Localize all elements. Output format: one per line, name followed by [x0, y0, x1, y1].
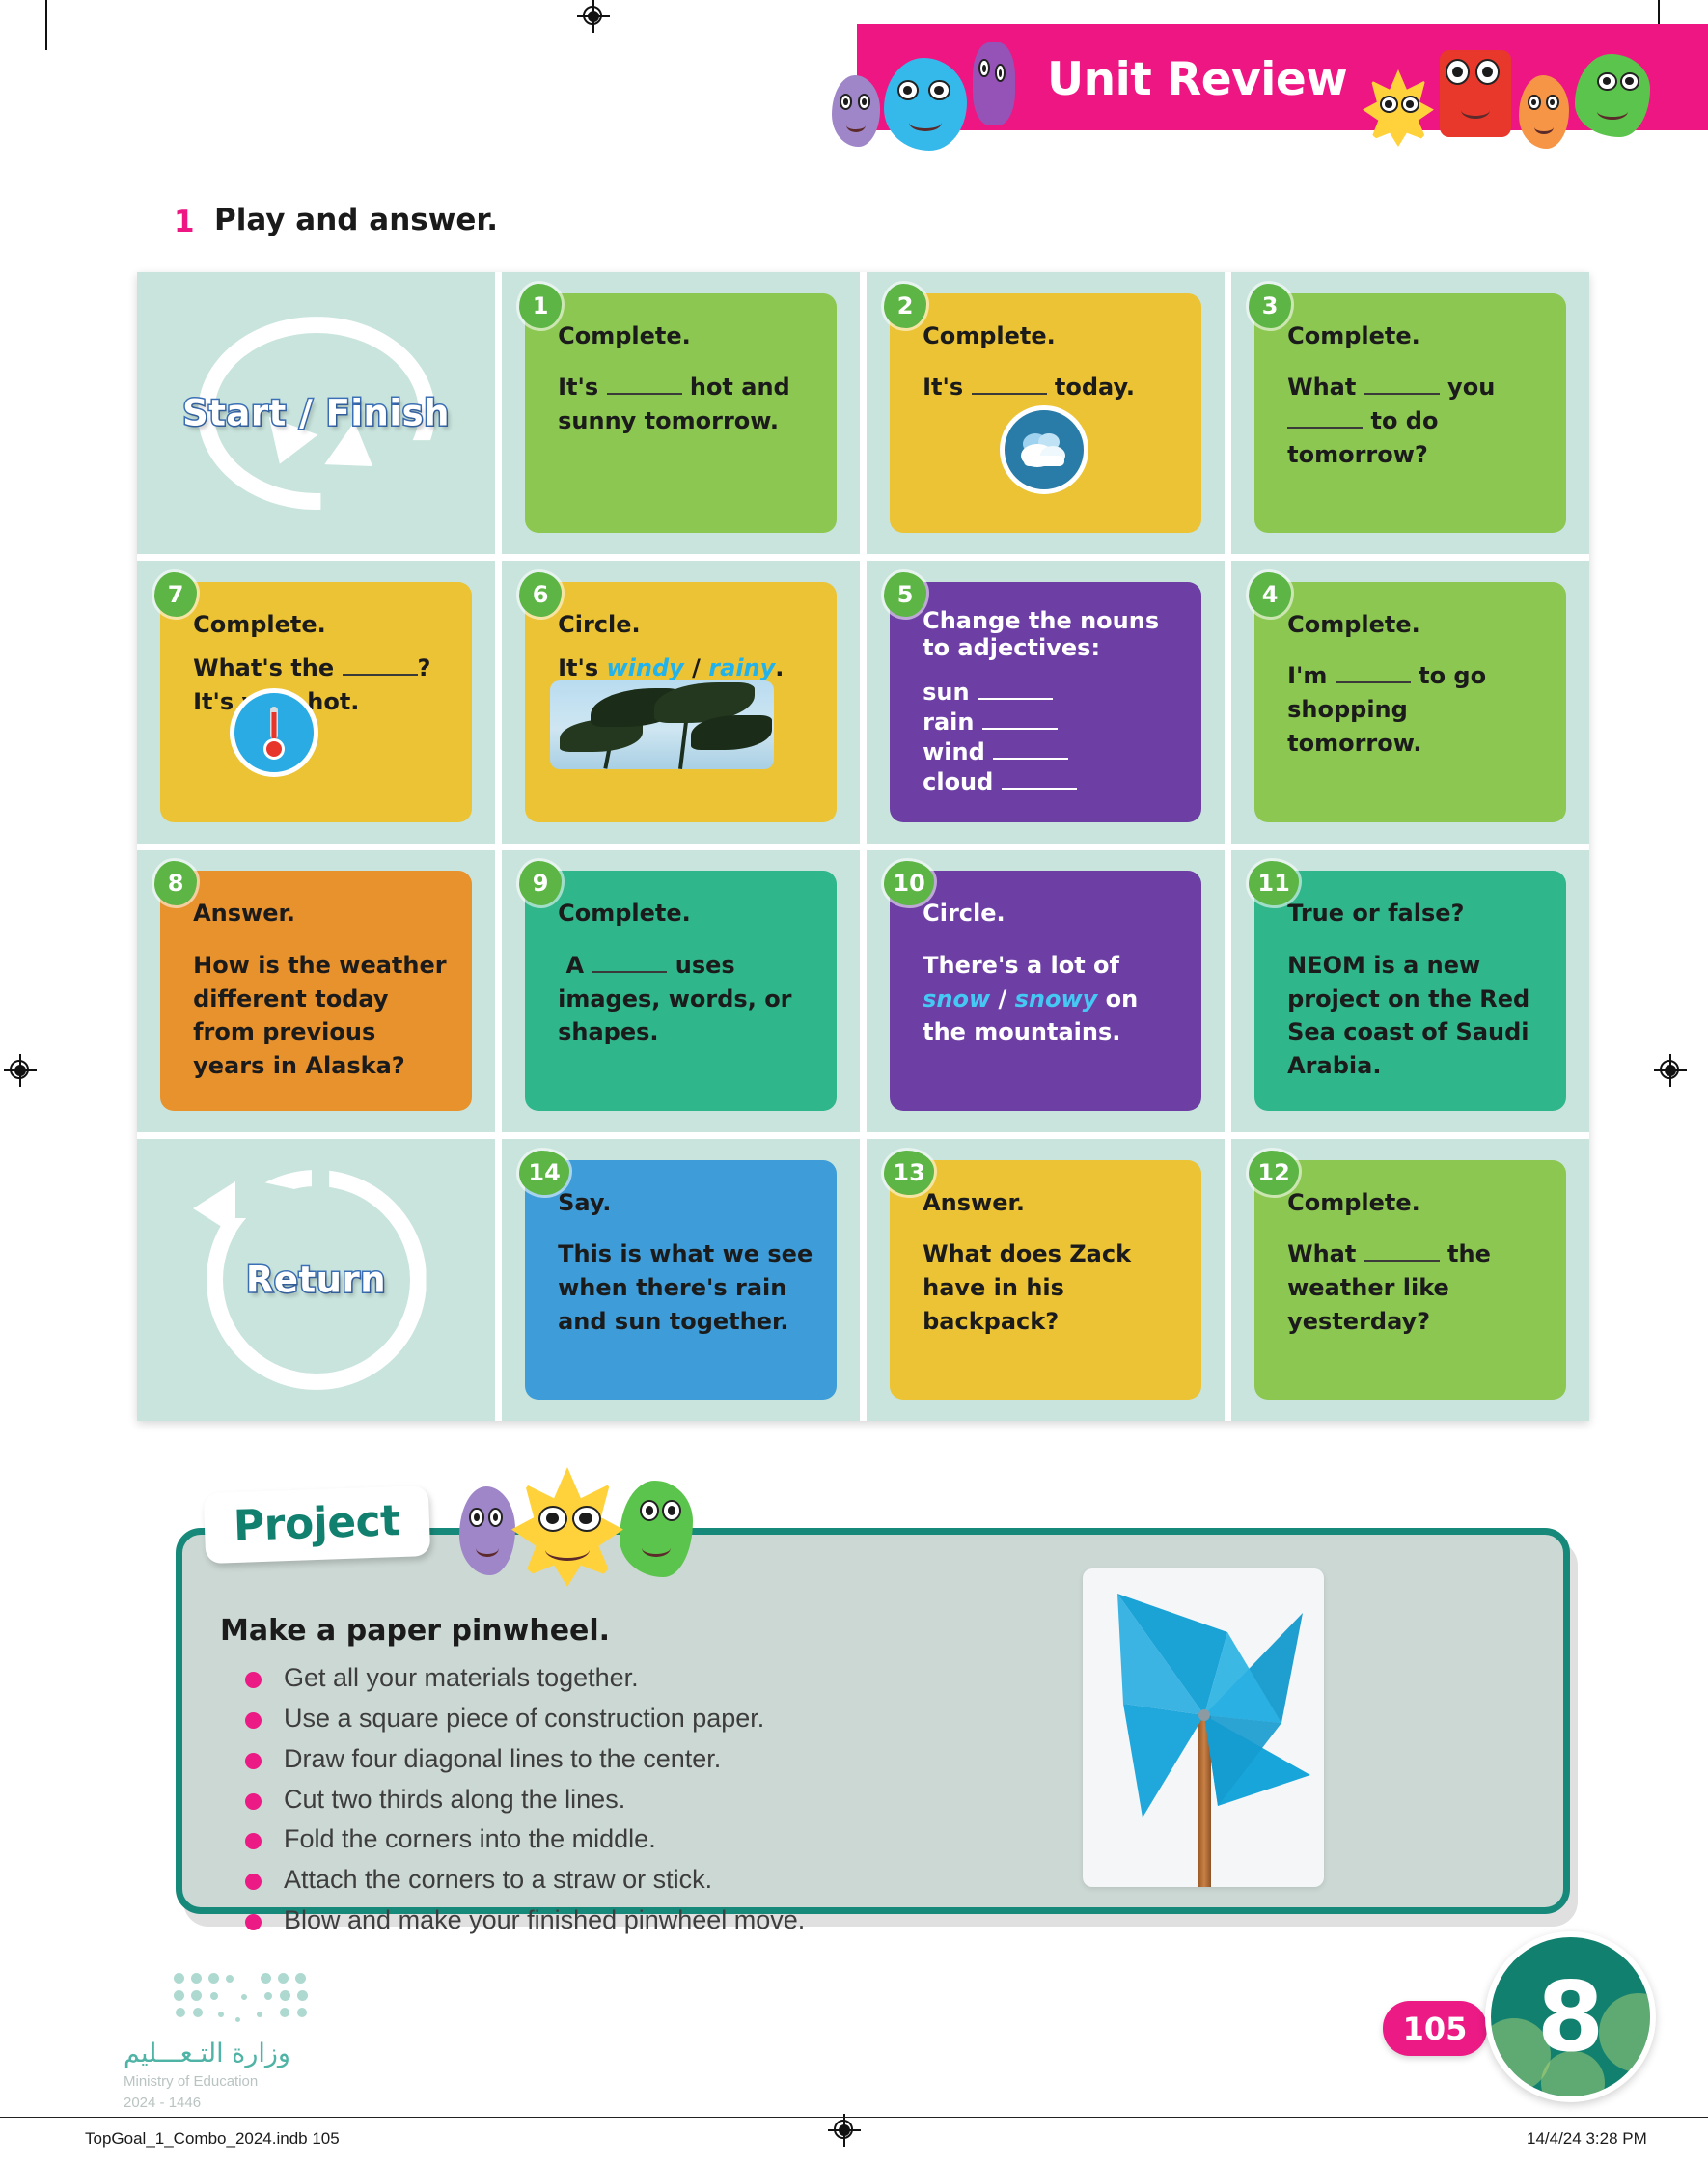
project-steps-list: Get all your materials together. Use a s… [228, 1658, 1077, 1941]
banner-title: Unit Review [1047, 53, 1347, 106]
card-number-badge: 14 [519, 1151, 569, 1195]
noun-to-adjective-list: sun rain wind cloud [923, 678, 1180, 798]
card-number-badge: 9 [519, 861, 562, 905]
registration-mark-left [4, 1054, 37, 1087]
card-number-badge: 3 [1249, 284, 1291, 328]
answer-blank[interactable] [972, 393, 1047, 395]
circle-option-rainy[interactable]: rainy [708, 654, 775, 681]
answer-blank[interactable] [1364, 1260, 1440, 1262]
mascot-purple-project-icon [459, 1486, 515, 1575]
board-cell-2: 2 Complete. It's today. [867, 272, 1225, 554]
pinwheel-blades [1083, 1568, 1324, 1887]
card-body: What does Zack have in his backpack? [923, 1237, 1180, 1338]
task-card-5[interactable]: 5 Change the nouns to adjectives: sun ra… [890, 582, 1201, 821]
ministry-year: 2024 - 1446 [124, 2095, 201, 2111]
board-cell-return: Return [137, 1139, 495, 1421]
unit-number-label: 8 [1537, 1969, 1605, 2066]
card-body: What you to do tomorrow? [1287, 371, 1545, 471]
page-number-badge: 105 [1383, 2001, 1487, 2056]
board-cell-11: 11 True or false? NEOM is a new project … [1231, 850, 1589, 1132]
card-body: This is what we see when there's rain an… [558, 1237, 815, 1338]
card-prompt: Complete. [193, 611, 451, 638]
project-tab: Project [204, 1485, 430, 1564]
cloud-glyph [1016, 430, 1072, 469]
card-prompt: Complete. [923, 322, 1180, 349]
project-step: Get all your materials together. [228, 1658, 1077, 1699]
mascot-purple-small-icon [832, 75, 880, 147]
return-arrow-left-icon [193, 1181, 235, 1235]
card-number-badge: 4 [1249, 572, 1291, 617]
task-card-7[interactable]: 7 Complete. What's the ?It's very hot. [160, 582, 472, 821]
card-body: NEOM is a new project on the Red Sea coa… [1287, 949, 1545, 1083]
card-number-badge: 2 [884, 284, 926, 328]
ministry-name-arabic: وزارة التـعـــليم [124, 2039, 290, 2068]
board-cell-start-finish: Start / Finish [137, 272, 495, 554]
registration-mark-right [1654, 1054, 1687, 1087]
project-step: Blow and make your finished pinwheel mov… [228, 1901, 1077, 1941]
task-card-1[interactable]: 1 Complete. It's hot and sunny tomorrow. [525, 293, 837, 533]
answer-blank[interactable] [978, 698, 1053, 700]
mascot-green-icon [1575, 54, 1650, 137]
project-step: Attach the corners to a straw or stick. [228, 1860, 1077, 1901]
card-prompt: Say. [558, 1189, 815, 1216]
answer-blank[interactable] [1002, 788, 1077, 790]
game-board: Start / Finish 1 Complete. It's hot and … [137, 272, 1589, 1421]
project-tab-label: Project [233, 1496, 400, 1551]
start-finish-label: Start / Finish [182, 393, 450, 434]
answer-blank[interactable] [1287, 427, 1363, 429]
card-prompt: Complete. [1287, 1189, 1545, 1216]
mascot-purple-tall-icon [973, 42, 1015, 125]
card-prompt: Circle. [923, 900, 1180, 927]
palm-frond [691, 715, 772, 750]
task-card-3[interactable]: 3 Complete. What you to do tomorrow? [1254, 293, 1566, 533]
task-card-8[interactable]: 8 Answer. How is the weather different t… [160, 871, 472, 1110]
mascot-red-block-icon [1440, 50, 1511, 137]
board-cell-13: 13 Answer. What does Zack have in his ba… [867, 1139, 1225, 1421]
task-card-12[interactable]: 12 Complete. What the weather like yeste… [1254, 1160, 1566, 1400]
card-number-badge: 7 [154, 572, 197, 617]
answer-blank[interactable] [343, 674, 418, 676]
noun-item: sun [923, 678, 1180, 708]
mascot-blue-large-icon [884, 58, 967, 151]
task-card-14[interactable]: 14 Say. This is what we see when there's… [525, 1160, 837, 1400]
thermometer-glyph [262, 703, 287, 763]
card-prompt: Answer. [193, 900, 451, 927]
board-cell-14: 14 Say. This is what we see when there's… [502, 1139, 860, 1421]
card-number-badge: 8 [154, 861, 197, 905]
project-step: Cut two thirds along the lines. [228, 1780, 1077, 1820]
card-prompt: Complete. [1287, 322, 1545, 349]
board-cell-8: 8 Answer. How is the weather different t… [137, 850, 495, 1132]
exercise-title: Play and answer. [214, 203, 498, 237]
footer-divider [0, 2117, 1708, 2118]
task-card-2[interactable]: 2 Complete. It's today. [890, 293, 1201, 533]
board-cell-4: 4 Complete. I'm to go shopping tomorrow. [1231, 561, 1589, 843]
thermometer-icon [230, 688, 318, 777]
task-card-6[interactable]: 6 Circle. It's windy / rainy. [525, 582, 837, 821]
card-number-badge: 1 [519, 284, 562, 328]
card-body: It's today. [923, 371, 1180, 404]
card-prompt: Complete. [558, 900, 815, 927]
card-number-badge: 6 [519, 572, 562, 617]
card-prompt: Complete. [558, 322, 815, 349]
footer-timestamp: 14/4/24 3:28 PM [1527, 2129, 1647, 2149]
registration-mark-top [577, 0, 610, 33]
footer-file-name: TopGoal_1_Combo_2024.indb 105 [85, 2129, 340, 2149]
board-cell-12: 12 Complete. What the weather like yeste… [1231, 1139, 1589, 1421]
circle-option-snowy[interactable]: snowy [1015, 985, 1098, 1013]
task-card-10[interactable]: 10 Circle. There's a lot of snow / snowy… [890, 871, 1201, 1110]
card-body: What the weather like yesterday? [1287, 1237, 1545, 1338]
ministry-name-english: Ministry of Education [124, 2073, 258, 2090]
project-step: Draw four diagonal lines to the center. [228, 1739, 1077, 1780]
answer-blank[interactable] [1336, 681, 1411, 683]
project-title: Make a paper pinwheel. [220, 1614, 610, 1648]
noun-item: cloud [923, 767, 1180, 797]
answer-blank[interactable] [592, 971, 667, 973]
task-card-11[interactable]: 11 True or false? NEOM is a new project … [1254, 871, 1566, 1110]
card-prompt: Complete. [1287, 611, 1545, 638]
ministry-logo-icon [172, 1971, 317, 2029]
unit-number-badge: 8 [1485, 1931, 1656, 2102]
return-label: Return [246, 1259, 386, 1300]
task-card-9[interactable]: 9 Complete. A uses images, words, or sha… [525, 871, 837, 1110]
circle-option-windy[interactable]: windy [607, 654, 684, 681]
noun-item: wind [923, 737, 1180, 767]
blue-paper-pinwheel-photo [1083, 1568, 1324, 1887]
board-cell-9: 9 Complete. A uses images, words, or sha… [502, 850, 860, 1132]
card-prompt: Answer. [923, 1189, 1180, 1216]
task-card-4[interactable]: 4 Complete. I'm to go shopping tomorrow. [1254, 582, 1566, 821]
cloud-icon [1000, 405, 1088, 494]
card-body: I'm to go shopping tomorrow. [1287, 659, 1545, 760]
board-cell-1: 1 Complete. It's hot and sunny tomorrow. [502, 272, 860, 554]
noun-item: rain [923, 708, 1180, 737]
board-cell-6: 6 Circle. It's windy / rainy. [502, 561, 860, 843]
card-prompt: Change the nouns to adjectives: [923, 607, 1180, 662]
answer-blank[interactable] [982, 728, 1058, 730]
card-prompt: Circle. [558, 611, 815, 638]
crop-mark-top-left [45, 0, 47, 50]
card-body: How is the weather different today from … [193, 949, 451, 1083]
card-body: A uses images, words, or shapes. [558, 949, 815, 1049]
card-body: What's the ?It's very hot. [193, 652, 451, 719]
card-prompt: True or false? [1287, 900, 1545, 927]
card-body: It's hot and sunny tomorrow. [558, 371, 815, 438]
registration-mark-bottom [828, 2114, 861, 2147]
mascot-orange-icon [1519, 75, 1569, 149]
answer-blank[interactable] [607, 393, 682, 395]
card-number-badge: 13 [884, 1151, 934, 1195]
circle-option-snow[interactable]: snow [923, 985, 990, 1013]
board-cell-3: 3 Complete. What you to do tomorrow? [1231, 272, 1589, 554]
card-number-badge: 12 [1249, 1151, 1299, 1195]
task-card-13[interactable]: 13 Answer. What does Zack have in his ba… [890, 1160, 1201, 1400]
windy-palm-trees-photo [550, 680, 774, 769]
project-step: Fold the corners into the middle. [228, 1819, 1077, 1860]
project-step: Use a square piece of construction paper… [228, 1699, 1077, 1739]
exercise-number: 1 [174, 205, 195, 239]
answer-blank[interactable] [1364, 393, 1440, 395]
card-number-badge: 5 [884, 572, 926, 617]
card-body: There's a lot of snow / snowy on the mou… [923, 949, 1180, 1049]
board-cell-7: 7 Complete. What's the ?It's very hot. [137, 561, 495, 843]
mascot-green-project-icon [620, 1481, 693, 1577]
answer-blank[interactable] [993, 758, 1068, 760]
board-cell-10: 10 Circle. There's a lot of snow / snowy… [867, 850, 1225, 1132]
mascot-yellow-star-project-icon [511, 1467, 623, 1587]
board-cell-5: 5 Change the nouns to adjectives: sun ra… [867, 561, 1225, 843]
